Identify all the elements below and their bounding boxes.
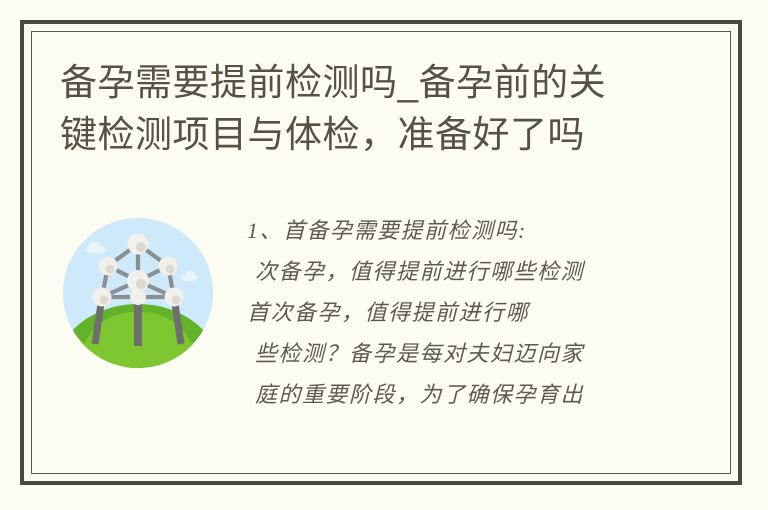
atomium-structure-icon xyxy=(63,218,213,368)
title-line-1: 备孕需要提前检测吗_备孕前的关 xyxy=(60,57,720,109)
body-line: 次备孕，值得提前进行哪些检测 xyxy=(247,251,720,292)
article-cover-card: 备孕需要提前检测吗_备孕前的关 键检测项目与体检，准备好了吗 xyxy=(0,0,768,510)
title-line-2: 键检测项目与体检，准备好了吗 xyxy=(60,109,720,161)
page-title: 备孕需要提前检测吗_备孕前的关 键检测项目与体检，准备好了吗 xyxy=(60,57,720,161)
content-row: 1、首备孕需要提前检测吗: 次备孕，值得提前进行哪些检测 首次备孕，值得提前进行… xyxy=(32,210,730,473)
inner-border-frame: 备孕需要提前检测吗_备孕前的关 键检测项目与体检，准备好了吗 xyxy=(31,31,731,474)
body-text: 1、首备孕需要提前检测吗: 次备孕，值得提前进行哪些检测 首次备孕，值得提前进行… xyxy=(247,210,730,415)
body-line: 庭的重要阶段，为了确保孕育出 xyxy=(247,374,720,415)
body-line: 1、首备孕需要提前检测吗: xyxy=(247,210,720,251)
outer-border-frame: 备孕需要提前检测吗_备孕前的关 键检测项目与体检，准备好了吗 xyxy=(20,20,742,485)
body-line: 些检测？备孕是每对夫妇迈向家 xyxy=(247,333,720,374)
body-line: 首次备孕，值得提前进行哪 xyxy=(247,292,720,333)
atomium-illustration xyxy=(63,218,213,368)
illustration-container xyxy=(63,218,213,368)
